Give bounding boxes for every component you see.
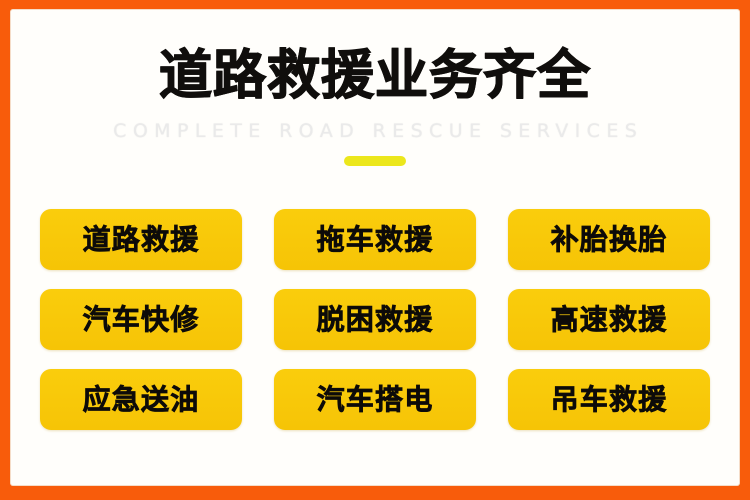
service-button-highway-rescue[interactable]: 高速救援	[508, 289, 710, 350]
service-button-quick-car-repair[interactable]: 汽车快修	[40, 289, 242, 350]
content-card: 道路救援业务齐全 COMPLETE ROAD RESCUE SERVICES 道…	[10, 9, 740, 486]
service-button-car-jump-start[interactable]: 汽车搭电	[274, 369, 476, 430]
service-button-tow-rescue[interactable]: 拖车救援	[274, 209, 476, 270]
service-row: 汽车快修 脱困救援 高速救援	[40, 289, 710, 350]
service-button-crane-rescue[interactable]: 吊车救援	[508, 369, 710, 430]
service-row: 道路救援 拖车救援 补胎换胎	[40, 209, 710, 270]
service-row: 应急送油 汽车搭电 吊车救援	[40, 369, 710, 430]
service-grid: 道路救援 拖车救援 补胎换胎 汽车快修 脱困救援 高速救援 应急送油 汽车搭电 …	[10, 209, 740, 430]
poster-root: 道路救援业务齐全 COMPLETE ROAD RESCUE SERVICES 道…	[0, 0, 750, 500]
service-button-road-rescue[interactable]: 道路救援	[40, 209, 242, 270]
page-title: 道路救援业务齐全	[10, 45, 740, 107]
page-subtitle: COMPLETE ROAD RESCUE SERVICES	[10, 119, 740, 143]
divider	[10, 151, 740, 165]
service-button-emergency-fuel-delivery[interactable]: 应急送油	[40, 369, 242, 430]
divider-bar	[344, 156, 406, 166]
service-button-tire-repair-replace[interactable]: 补胎换胎	[508, 209, 710, 270]
service-button-extrication-rescue[interactable]: 脱困救援	[274, 289, 476, 350]
